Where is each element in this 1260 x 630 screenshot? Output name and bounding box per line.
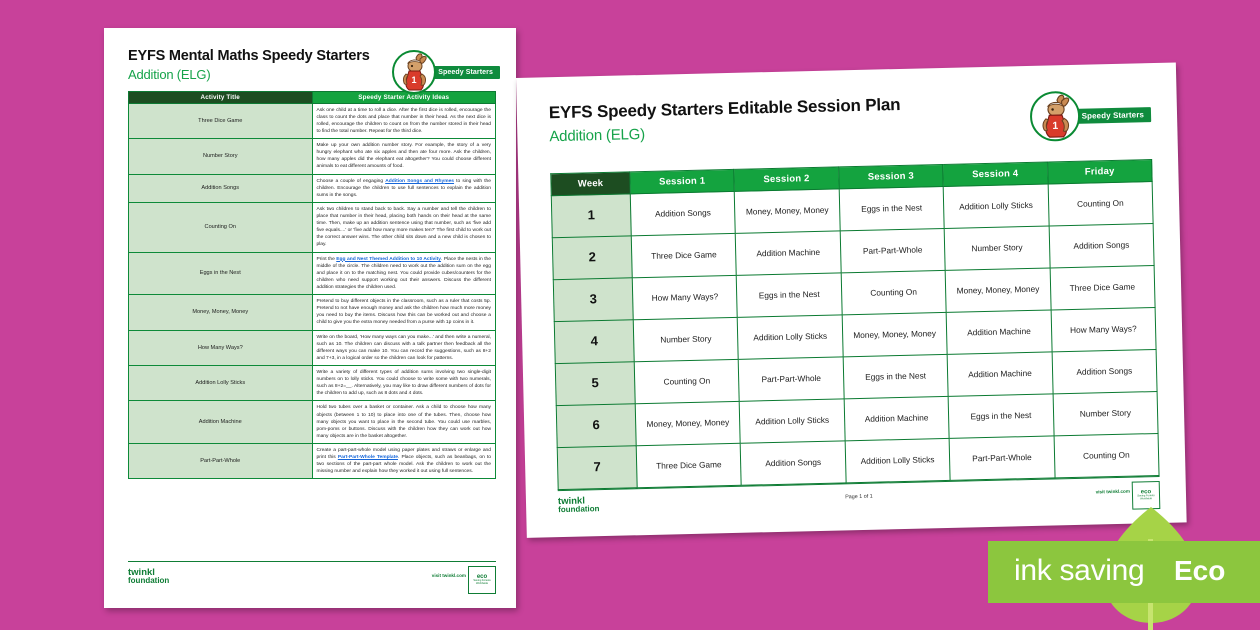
activity-title-cell: Three Dice Game [129,103,313,138]
header-week: Week [551,172,630,196]
session-activity-cell[interactable]: Addition Lolly Sticks [943,184,1048,228]
session-activity-cell[interactable]: Number Story [944,226,1049,270]
speedy-starters-badge: 1 Speedy Starters [1029,89,1152,142]
session-activity-cell[interactable]: Eggs in the Nest [839,186,944,230]
header-activity-title: Activity Title [129,91,313,103]
table-row: Part-Part-WholeCreate a part-part-whole … [129,443,496,478]
header-session-1: Session 1 [630,169,735,193]
week-number-cell[interactable]: 1 [551,194,631,238]
activity-title-cell: Eggs in the Nest [129,252,313,295]
doc1-footer: twinkl foundation visit twinkl.com eco S… [128,561,496,596]
document-sheet-activity-ideas: EYFS Mental Maths Speedy Starters Additi… [104,28,516,608]
table-row: How Many Ways?Write on the board, 'How m… [129,330,496,365]
ink-saving-label: ink saving [1014,554,1144,588]
resource-link[interactable]: Part-Part-Whole Template [338,455,398,460]
session-activity-cell[interactable]: Addition Lolly Sticks [845,438,950,482]
session-activity-cell[interactable]: Money, Money, Money [635,401,740,445]
session-activity-cell[interactable]: Addition Lolly Sticks [738,315,843,359]
activity-idea-cell: Make up your own addition number story. … [312,139,496,174]
session-activity-cell[interactable]: Counting On [841,270,946,314]
resource-link[interactable]: Addition Songs and Rhymes [385,179,454,184]
session-activity-cell[interactable]: Money, Money, Money [842,312,947,356]
week-number-cell[interactable]: 3 [553,278,633,322]
eco-stamp-sub: Saving Forests Worldwide [1133,495,1159,502]
activity-title-cell: Part-Part-Whole [129,443,313,478]
svg-text:1: 1 [1052,121,1058,132]
eco-stamp-icon: eco Saving Forests Worldwide [468,566,496,594]
activity-idea-cell: Print the Egg and Nest Themed Addition t… [312,252,496,295]
session-activity-cell[interactable]: Addition Machine [736,231,841,275]
activity-idea-cell: Hold two tubes over a basket or containe… [312,401,496,444]
visit-twinkl-link[interactable]: visit twinkl.com [432,573,466,578]
header-session-4: Session 4 [943,162,1048,186]
session-activity-cell[interactable]: Counting On [634,359,739,403]
page-number: Page 1 of 1 [558,487,1160,507]
activity-idea-cell: Pretend to buy different objects in the … [312,295,496,330]
week-number-cell[interactable]: 2 [552,236,632,280]
activity-title-cell: How Many Ways? [129,330,313,365]
table-row: Three Dice GameAsk one child at a time t… [129,103,496,138]
table-row: Number StoryMake up your own addition nu… [129,139,496,174]
activity-idea-cell: Choose a couple of engaging Addition Son… [312,174,496,202]
session-activity-cell[interactable]: Money, Money, Money [945,268,1050,312]
session-activity-cell[interactable]: Eggs in the Nest [948,394,1053,438]
table-row: Addition MachineHold two tubes over a ba… [129,401,496,444]
hare-mascot-icon: 1 [1029,91,1080,142]
eco-stamp-sub: Saving Forests Worldwide [469,580,495,586]
week-number-cell[interactable]: 4 [554,320,634,364]
session-activity-cell[interactable]: Three Dice Game [631,233,736,277]
session-activity-cell[interactable]: Addition Songs [630,191,735,235]
session-activity-cell[interactable]: Addition Machine [844,396,949,440]
session-activity-cell[interactable]: Part-Part-Whole [840,228,945,272]
activity-title-cell: Money, Money, Money [129,295,313,330]
session-activity-cell[interactable]: Addition Machine [946,310,1051,354]
activity-title-cell: Addition Machine [129,401,313,444]
activity-idea-cell: Write on the board, 'How many ways can y… [312,330,496,365]
session-activity-cell[interactable]: Addition Lolly Sticks [740,399,845,443]
session-activity-cell[interactable]: Eggs in the Nest [843,354,948,398]
twinkl-foundation-logo: twinkl foundation [128,568,180,592]
header-session-3: Session 3 [838,164,943,188]
svg-text:1: 1 [412,75,417,85]
week-number-cell[interactable]: 6 [556,404,636,448]
session-activity-cell[interactable]: Counting On [1054,433,1159,477]
session-activity-cell[interactable]: Counting On [1048,182,1153,226]
header-friday: Friday [1047,160,1152,184]
session-activity-cell[interactable]: How Many Ways? [1051,308,1156,352]
session-activity-cell[interactable]: Addition Machine [947,352,1052,396]
activity-title-cell: Addition Songs [129,174,313,202]
session-activity-cell[interactable]: Number Story [633,317,738,361]
session-activity-cell[interactable]: Part-Part-Whole [949,436,1054,480]
session-activity-cell[interactable]: Eggs in the Nest [737,273,842,317]
activity-idea-cell: Create a part-part-whole model using pap… [312,443,496,478]
activity-title-cell: Addition Lolly Sticks [129,365,313,400]
session-activity-cell[interactable]: Addition Songs [741,441,846,485]
activity-title-cell: Number Story [129,139,313,174]
badge-label: Speedy Starters [1067,107,1151,124]
session-activity-cell[interactable]: Three Dice Game [1050,266,1155,310]
ink-saving-eco-banner: ink saving Eco [988,541,1260,603]
session-activity-cell[interactable]: Addition Songs [1052,349,1157,393]
eco-label: Eco [1174,555,1225,587]
activity-idea-cell: Ask one child at a time to roll a dice. … [312,103,496,138]
activity-title-cell: Counting On [129,202,313,252]
session-activity-cell[interactable]: How Many Ways? [632,275,737,319]
session-activity-cell[interactable]: Three Dice Game [636,443,741,487]
table-row: Addition Lolly SticksWrite a variety of … [129,365,496,400]
speedy-starters-badge: 1 Speedy Starters [392,50,500,94]
header-session-2: Session 2 [734,167,839,191]
session-activity-cell[interactable]: Money, Money, Money [735,189,840,233]
activity-idea-cell: Ask two children to stand back to back. … [312,202,496,252]
activity-idea-cell: Write a variety of different types of ad… [312,365,496,400]
table-row: Addition SongsChoose a couple of engagin… [129,174,496,202]
week-number-cell[interactable]: 7 [557,446,637,490]
activity-ideas-table: Activity Title Speedy Starter Activity I… [128,91,496,480]
table-row: Money, Money, MoneyPretend to buy differ… [129,295,496,330]
hare-mascot-icon: 1 [392,50,436,94]
session-activity-cell[interactable]: Part-Part-Whole [739,357,844,401]
foundation-wordmark: foundation [128,577,180,585]
week-number-cell[interactable]: 5 [555,362,635,406]
table-row: Counting OnAsk two children to stand bac… [129,202,496,252]
session-activity-cell[interactable]: Number Story [1053,391,1158,435]
session-activity-cell[interactable]: Addition Songs [1049,224,1154,268]
document-sheet-session-plan: EYFS Speedy Starters Editable Session Pl… [516,62,1187,537]
table-row: Eggs in the NestPrint the Egg and Nest T… [129,252,496,295]
resource-link[interactable]: Egg and Nest Themed Addition to 10 Activ… [336,257,441,262]
session-plan-table: Week Session 1 Session 2 Session 3 Sessi… [550,159,1159,490]
visit-twinkl-link[interactable]: visit twinkl.com [1096,489,1130,495]
